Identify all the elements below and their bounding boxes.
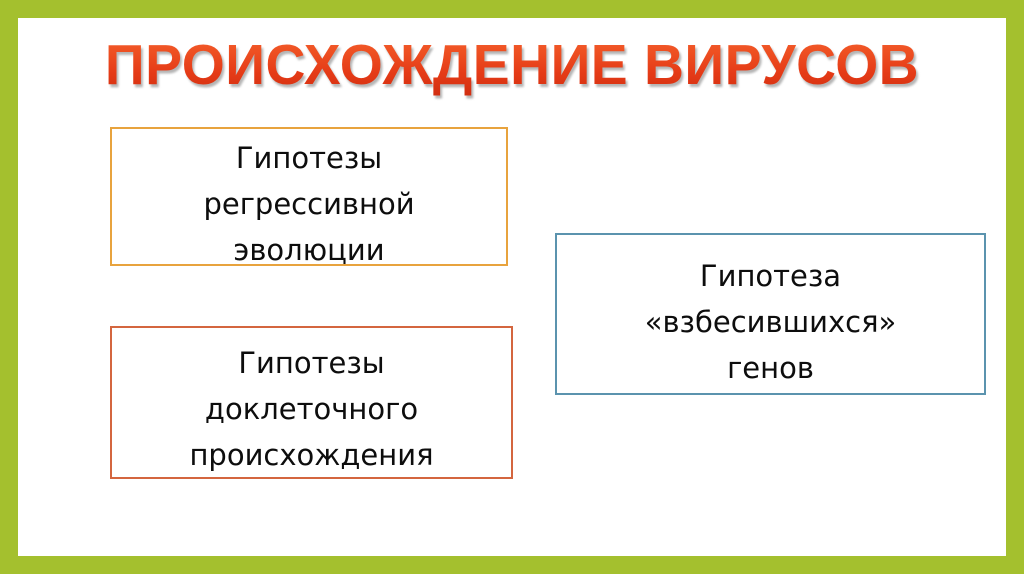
hypothesis-box-regressive-evolution: Гипотезы регрессивной эволюции: [110, 127, 508, 266]
slide-canvas: ПРОИСХОЖДЕНИЕ ВИРУСОВ Гипотезы регрессив…: [0, 0, 1024, 574]
hypothesis-label-rabid-genes: Гипотеза «взбесившихся» генов: [557, 253, 984, 391]
hypothesis-box-rabid-genes: Гипотеза «взбесившихся» генов: [555, 233, 986, 395]
slide-title: ПРОИСХОЖДЕНИЕ ВИРУСОВ: [15, 32, 1008, 98]
hypothesis-box-precellular-origin: Гипотезы доклеточного происхождения: [110, 326, 513, 479]
hypothesis-label-regressive-evolution: Гипотезы регрессивной эволюции: [112, 135, 506, 273]
frame-border-top: [0, 0, 1024, 18]
hypothesis-label-precellular-origin: Гипотезы доклеточного происхождения: [112, 340, 511, 478]
frame-border-right: [1006, 0, 1024, 574]
frame-border-bottom: [0, 556, 1024, 574]
